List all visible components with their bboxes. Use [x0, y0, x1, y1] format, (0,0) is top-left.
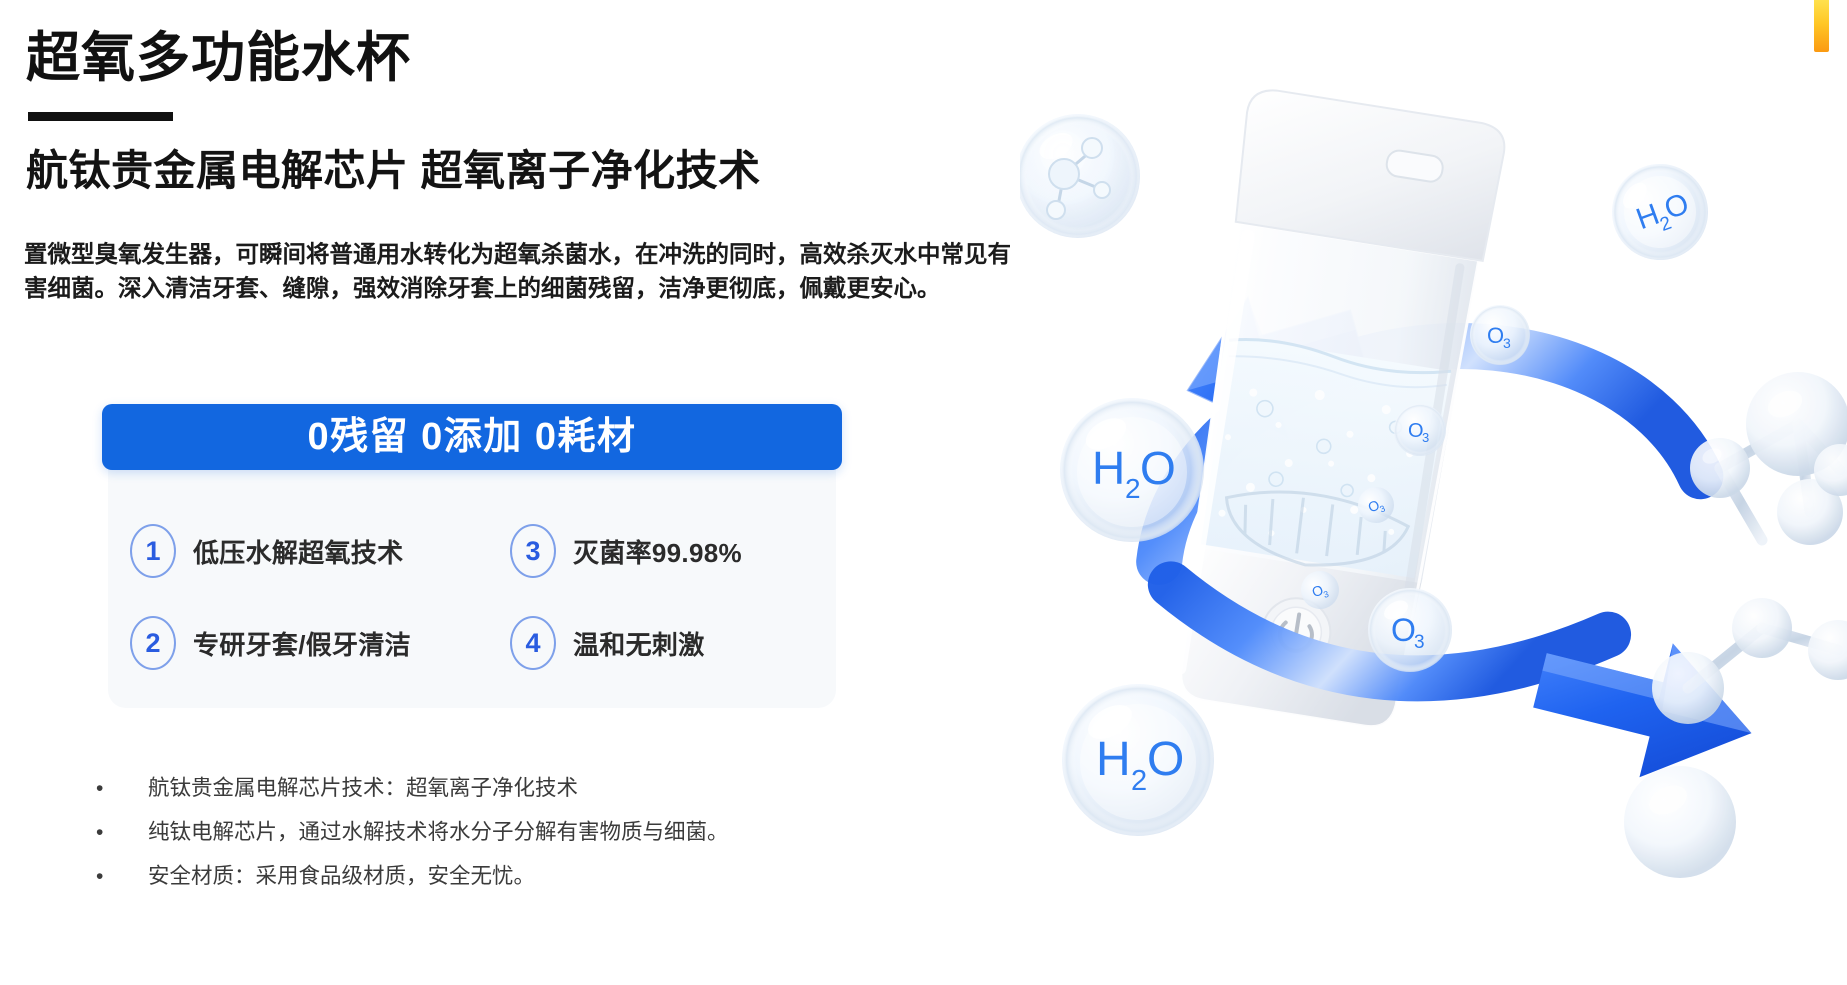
- feature-label-4: 温和无刺激: [573, 625, 705, 662]
- feature-number-badge-4: 4: [510, 616, 556, 670]
- page-title: 超氧多功能水杯: [26, 28, 411, 88]
- feature-label-3: 灭菌率99.98%: [573, 533, 742, 570]
- spec-bullet-list: • 航钛贵金属电解芯片技术：超氧离子净化技术 • 纯钛电解芯片，通过水解技术将水…: [96, 775, 976, 907]
- product-marketing-page: 超氧多功能水杯 航钛贵金属电解芯片 超氧离子净化技术 置微型臭氧发生器，可瞬间将…: [0, 0, 1847, 985]
- o3-bubble-mid: O 3: [1394, 404, 1446, 456]
- water-molecule-bubble-top: [1020, 114, 1140, 238]
- feature-item-3: 3 灭菌率99.98%: [510, 505, 820, 597]
- page-subtitle: 航钛贵金属电解芯片 超氧离子净化技术: [26, 147, 761, 195]
- list-item: • 安全材质：采用食品级材质，安全无忧。: [96, 863, 976, 891]
- feature-list: 1 低压水解超氧技术 2 专研牙套/假牙清洁 3 灭菌率99.98% 4 温和无…: [130, 505, 820, 689]
- zero-claims-banner: 0残留 0添加 0耗材: [102, 404, 842, 470]
- list-item: • 纯钛电解芯片，通过水解技术将水分子分解有害物质与细菌。: [96, 819, 976, 847]
- svg-text:O: O: [1487, 323, 1504, 348]
- svg-text:O: O: [1147, 733, 1184, 786]
- feature-item-4: 4 温和无刺激: [510, 597, 820, 689]
- bullet-text-2: 纯钛电解芯片，通过水解技术将水分子分解有害物质与细菌。: [148, 819, 729, 847]
- svg-text:3: 3: [1414, 632, 1425, 653]
- h2o-bubble-upper: H 2 O: [1598, 150, 1721, 273]
- feature-item-2: 2 专研牙套/假牙清洁: [130, 597, 510, 689]
- o3-bubble-large-bottom: O 3: [1368, 588, 1452, 672]
- bullet-marker-icon: •: [96, 775, 148, 802]
- bullet-marker-icon: •: [96, 863, 148, 890]
- feature-number-badge-2: 2: [130, 616, 176, 670]
- o3-bubble-top-right: O 3: [1470, 305, 1530, 365]
- feature-label-1: 低压水解超氧技术: [193, 533, 403, 570]
- feature-number-badge-3: 3: [510, 524, 556, 578]
- svg-text:3: 3: [1503, 335, 1511, 351]
- svg-text:2: 2: [1131, 765, 1147, 797]
- product-image-scene: H 2 O H 2 O H 2 O: [1020, 0, 1847, 985]
- feature-label-2: 专研牙套/假牙清洁: [193, 625, 411, 662]
- bullet-text-1: 航钛贵金属电解芯片技术：超氧离子净化技术: [148, 775, 578, 803]
- left-content-column: 超氧多功能水杯 航钛贵金属电解芯片 超氧离子净化技术 置微型臭氧发生器，可瞬间将…: [0, 0, 1020, 985]
- bullet-marker-icon: •: [96, 819, 148, 846]
- h2o-label-mid: H: [1092, 442, 1125, 494]
- feature-number-badge-1: 1: [130, 524, 176, 578]
- body-paragraph: 置微型臭氧发生器，可瞬间将普通用水转化为超氧杀菌水，在冲洗的同时，高效杀灭水中常…: [24, 238, 1032, 306]
- h2o-bubble-lower: H 2 O: [1062, 684, 1214, 836]
- h2o-bubble-mid: H 2 O: [1060, 398, 1204, 542]
- h2o-label-lower: H: [1096, 733, 1131, 786]
- feature-item-1: 1 低压水解超氧技术: [130, 505, 510, 597]
- svg-text:3: 3: [1422, 430, 1429, 445]
- title-underline-rule: [28, 112, 173, 121]
- svg-text:O: O: [1140, 442, 1176, 494]
- list-item: • 航钛贵金属电解芯片技术：超氧离子净化技术: [96, 775, 976, 803]
- zero-claims-banner-label: 0残留 0添加 0耗材: [307, 418, 636, 456]
- bullet-text-3: 安全材质：采用食品级材质，安全无忧。: [148, 863, 535, 891]
- svg-text:2: 2: [1125, 473, 1141, 504]
